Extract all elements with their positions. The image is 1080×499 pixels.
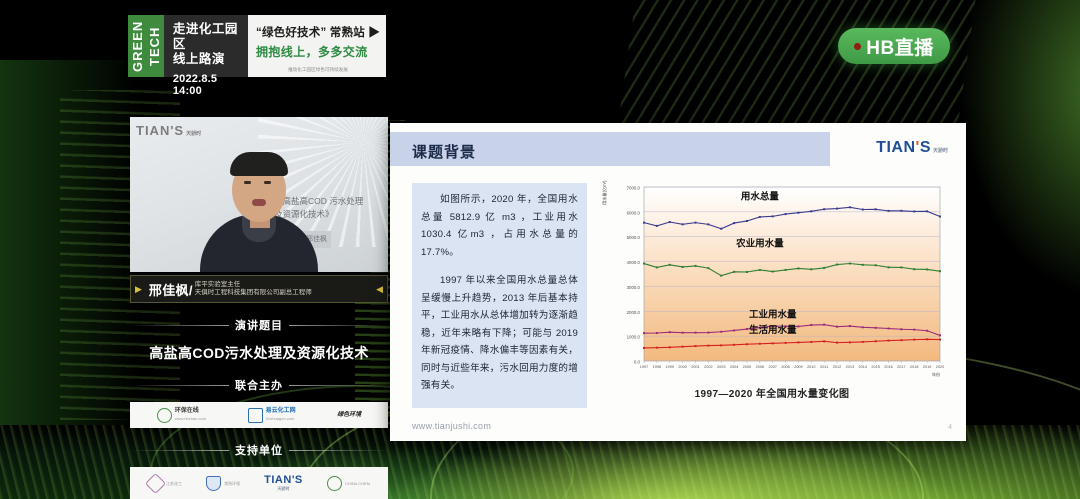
svg-text:农业用水量: 农业用水量: [735, 238, 784, 250]
tians-logo-text: TIAN'S天骄时: [264, 474, 303, 492]
live-dot-icon: [854, 43, 861, 50]
svg-text:2016: 2016: [884, 365, 892, 369]
svg-text:1000.0: 1000.0: [627, 335, 641, 340]
svg-text:2004: 2004: [730, 365, 738, 369]
svg-text:2019: 2019: [923, 365, 931, 369]
chart-svg: 0.01000.02000.03000.04000.05000.06000.07…: [598, 179, 946, 381]
svg-text:2013: 2013: [846, 365, 854, 369]
speaker-title: 库平实验室主任 天俱时工程科技集团有限公司副总工程师: [195, 281, 312, 298]
speaker-name: 邢佳枫/: [149, 280, 193, 299]
svg-text:年份: 年份: [932, 371, 940, 377]
event-subheadline: 拥抱线上，多多交流: [256, 43, 380, 60]
speaker-video-figure: [200, 154, 318, 272]
logo-item: TIAN'S天骄时: [264, 474, 303, 492]
topic-header-label: 演讲题目: [235, 317, 283, 333]
svg-text:2000: 2000: [678, 365, 686, 369]
figure-hair: [230, 152, 288, 176]
greentech-logo: GREEN TECH: [128, 15, 164, 77]
svg-text:1999: 1999: [666, 365, 674, 369]
coorganizer-logos: 环保在线www.hbzhan.com 易云化工网51ehuagon.com 绿色…: [130, 402, 388, 428]
svg-text:3000.0: 3000.0: [627, 285, 641, 290]
figure-eye-left: [244, 181, 251, 184]
svg-text:2020: 2020: [936, 365, 944, 369]
greentech-logo-text: GREEN TECH: [129, 15, 163, 77]
speaker-title-line-2: 天俱时工程科技集团有限公司副总工程师: [195, 289, 312, 298]
divider-left: [130, 325, 229, 326]
logo-item: 易云化工网51ehuagon.com: [248, 408, 296, 423]
svg-text:2017: 2017: [897, 365, 905, 369]
live-badge[interactable]: HB直播: [838, 28, 950, 64]
logo-text: 常熟环保: [224, 480, 240, 487]
supporter-section-header: 支持单位: [130, 442, 388, 458]
slide-paragraph: 1997 年以来全国用水总量总体呈缓慢上升趋势，2013 年后基本持平，工业用水…: [421, 272, 578, 395]
svg-text:2006: 2006: [756, 365, 764, 369]
circle-logo-icon: [327, 476, 342, 491]
event-title-block: 走进化工园区线上路演 2022.8.5 14:00: [164, 15, 248, 77]
event-date: 2022.8.5 14:00: [173, 73, 248, 97]
event-slogan-block: “绿色好技术” 常熟站 ▶ 拥抱线上，多多交流 推动化工园区绿色可持续发展: [248, 15, 386, 77]
logo-text: 江苏化工: [166, 480, 182, 487]
logo-item: 环保在线www.hbzhan.com: [157, 408, 206, 423]
speaker-title-line-1: 库平实验室主任: [195, 281, 312, 290]
svg-text:2018: 2018: [910, 365, 918, 369]
coorganizer-header-label: 联合主办: [235, 377, 283, 393]
svg-text:2014: 2014: [859, 365, 867, 369]
event-title: 走进化工园区线上路演: [173, 22, 248, 67]
svg-text:2005: 2005: [743, 365, 751, 369]
svg-text:1997: 1997: [640, 365, 648, 369]
event-headline: “绿色好技术” 常熟站 ▶: [256, 24, 380, 40]
presentation-slide[interactable]: 课题背景 TIAN'S天骄时 如图所示，2020 年，全国用水总量 5812.9…: [390, 123, 966, 441]
divider-right: [289, 385, 388, 386]
video-watermark: TIAN'S天骄时: [136, 123, 201, 138]
supporter-header-label: 支持单位: [235, 442, 283, 458]
shield-logo-icon: [206, 476, 221, 491]
svg-text:用水总量: 用水总量: [740, 190, 780, 202]
event-banner: GREEN TECH 走进化工园区线上路演 2022.8.5 14:00 “绿色…: [128, 15, 386, 77]
svg-text:7000.0: 7000.0: [627, 186, 641, 191]
svg-text:2009: 2009: [794, 365, 802, 369]
slide-page-number: 4: [948, 424, 952, 431]
live-stream-screen: GREEN TECH 走进化工园区线上路演 2022.8.5 14:00 “绿色…: [0, 0, 1080, 499]
svg-text:2007: 2007: [768, 365, 776, 369]
svg-text:2000.0: 2000.0: [627, 310, 641, 315]
speaker-name-bar: ▶ 邢佳枫/ 库平实验室主任 天俱时工程科技集团有限公司副总工程师 ◀: [130, 275, 388, 303]
water-usage-chart: 0.01000.02000.03000.04000.05000.06000.07…: [598, 179, 946, 381]
chart-caption: 1997—2020 年全国用水量变化图: [598, 385, 946, 400]
svg-text:6000.0: 6000.0: [627, 210, 641, 215]
square-logo-icon: [248, 408, 263, 423]
svg-text:工业用水量: 工业用水量: [749, 309, 797, 321]
svg-text:2001: 2001: [691, 365, 699, 369]
divider-right: [289, 450, 388, 451]
svg-text:生活用水量: 生活用水量: [749, 324, 797, 336]
svg-text:2012: 2012: [833, 365, 841, 369]
figure-mouth: [252, 199, 266, 206]
slide-paragraph: 如图所示，2020 年，全国用水总量 5812.9 亿 m3 ，工业用水 103…: [421, 191, 578, 261]
slide-footer-url: www.tianjushi.com: [412, 421, 491, 431]
logo-item: 江苏化工: [148, 476, 182, 491]
slide-brand-logo: TIAN'S天骄时: [876, 139, 948, 157]
svg-text:2011: 2011: [820, 365, 828, 369]
svg-text:2002: 2002: [704, 365, 712, 369]
svg-text:用水量(亿m³): 用水量(亿m³): [601, 180, 608, 205]
figure-eye-right: [264, 181, 271, 184]
logo-item: CHINA CHEM: [327, 476, 370, 491]
hexagon-logo-icon: [145, 472, 166, 493]
divider-left: [130, 450, 229, 451]
video-player[interactable]: TIAN'S天骄时 《高盐高COD 污水处理 及资源化技术》 主讲人：邢佳枫: [130, 117, 388, 272]
slide-title: 课题背景: [412, 141, 476, 162]
svg-text:0.0: 0.0: [634, 360, 641, 365]
svg-text:2015: 2015: [871, 365, 879, 369]
slide-text-box: 如图所示，2020 年，全国用水总量 5812.9 亿 m3 ，工业用水 103…: [412, 183, 587, 408]
divider-left: [130, 385, 229, 386]
logo-text: 环保在线www.hbzhan.com: [175, 408, 206, 422]
svg-text:4000.0: 4000.0: [627, 260, 641, 265]
divider-right: [289, 325, 388, 326]
background-left-glow: [0, 60, 140, 459]
circle-logo-icon: [157, 408, 172, 423]
topic-section-header: 演讲题目: [130, 317, 388, 333]
svg-text:5000.0: 5000.0: [627, 235, 641, 240]
live-badge-label: HB直播: [866, 33, 933, 60]
left-panel: TIAN'S天骄时 《高盐高COD 污水处理 及资源化技术》 主讲人：邢佳枫 ▶…: [130, 117, 388, 499]
svg-text:2010: 2010: [807, 365, 815, 369]
topic-value: 高盐高COD污水处理及资源化技术: [130, 343, 388, 363]
logo-text: CHINA CHEM: [345, 480, 370, 487]
coorganizer-section-header: 联合主办: [130, 377, 388, 393]
logo-text: 绿色环境: [337, 412, 361, 419]
supporter-logos: 江苏化工 常熟环保 TIAN'S天骄时 CHINA CHEM: [130, 467, 388, 499]
logo-item: 常熟环保: [206, 476, 240, 491]
logo-item: 绿色环境: [337, 412, 361, 419]
right-arrow-icon: ◀: [376, 284, 383, 295]
left-arrow-icon: ▶: [135, 284, 142, 295]
event-fineprint: 推动化工园区绿色可持续发展: [261, 66, 375, 72]
svg-text:2003: 2003: [717, 365, 725, 369]
logo-text: 易云化工网51ehuagon.com: [266, 408, 296, 422]
svg-text:2008: 2008: [781, 365, 789, 369]
svg-text:1998: 1998: [653, 365, 661, 369]
